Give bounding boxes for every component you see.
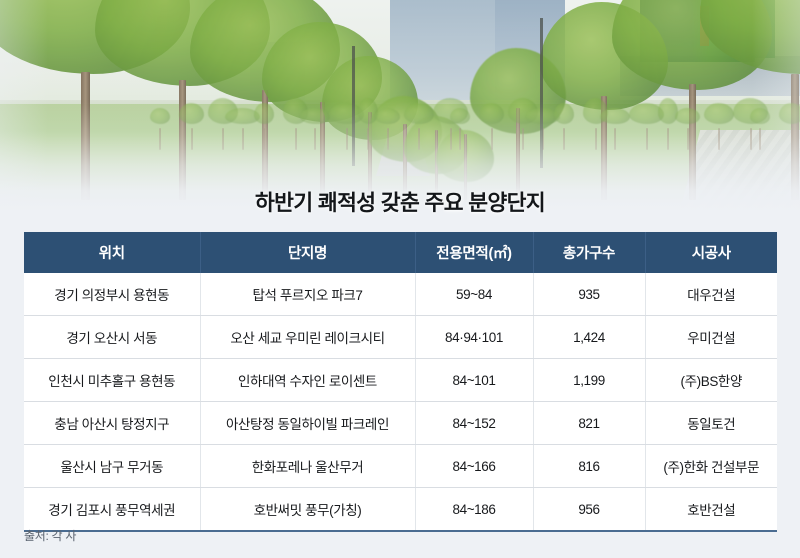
cell-units: 821 bbox=[533, 402, 645, 445]
cell-builder: 동일토건 bbox=[645, 402, 777, 445]
table-row: 경기 김포시 풍무역세권호반써밋 풍무(가칭)84~186956호반건설 bbox=[24, 488, 777, 532]
cell-area: 84~152 bbox=[415, 402, 533, 445]
column-header-builder: 시공사 bbox=[645, 232, 777, 273]
cell-area: 84·94·101 bbox=[415, 316, 533, 359]
cell-location: 울산시 남구 무거동 bbox=[24, 445, 200, 488]
table-row: 충남 아산시 탕정지구아산탕정 동일하이빌 파크레인84~152821동일토건 bbox=[24, 402, 777, 445]
table-header-row: 위치 단지명 전용면적(㎡) 총가구수 시공사 bbox=[24, 232, 777, 273]
table-row: 경기 오산시 서동오산 세교 우미린 레이크시티84·94·1011,424우미… bbox=[24, 316, 777, 359]
column-header-units: 총가구수 bbox=[533, 232, 645, 273]
cell-units: 1,424 bbox=[533, 316, 645, 359]
cell-builder: 대우건설 bbox=[645, 273, 777, 316]
cell-location: 경기 오산시 서동 bbox=[24, 316, 200, 359]
cell-complex: 아산탕정 동일하이빌 파크레인 bbox=[200, 402, 415, 445]
cell-area: 59~84 bbox=[415, 273, 533, 316]
table-body: 경기 의정부시 용현동탑석 푸르지오 파크759~84935대우건설경기 오산시… bbox=[24, 273, 777, 531]
cell-complex: 한화포레나 울산무거 bbox=[200, 445, 415, 488]
table-head: 위치 단지명 전용면적(㎡) 총가구수 시공사 bbox=[24, 232, 777, 273]
cell-area: 84~186 bbox=[415, 488, 533, 532]
cell-units: 816 bbox=[533, 445, 645, 488]
source-note: 출처: 각 사 bbox=[24, 527, 76, 544]
cell-location: 경기 김포시 풍무역세권 bbox=[24, 488, 200, 532]
cell-units: 1,199 bbox=[533, 359, 645, 402]
cell-location: 충남 아산시 탕정지구 bbox=[24, 402, 200, 445]
banner-photo bbox=[0, 0, 800, 212]
cell-complex: 인하대역 수자인 로이센트 bbox=[200, 359, 415, 402]
cell-units: 935 bbox=[533, 273, 645, 316]
cell-complex: 탑석 푸르지오 파크7 bbox=[200, 273, 415, 316]
cell-builder: 우미건설 bbox=[645, 316, 777, 359]
table-row: 울산시 남구 무거동한화포레나 울산무거84~166816(주)한화 건설부문 bbox=[24, 445, 777, 488]
apartment-supply-table: 위치 단지명 전용면적(㎡) 총가구수 시공사 경기 의정부시 용현동탑석 푸르… bbox=[24, 232, 777, 532]
column-header-complex: 단지명 bbox=[200, 232, 415, 273]
cell-location: 인천시 미추홀구 용현동 bbox=[24, 359, 200, 402]
cell-location: 경기 의정부시 용현동 bbox=[24, 273, 200, 316]
photo-fade-sides bbox=[0, 0, 800, 212]
infographic-page: 하반기 쾌적성 갖춘 주요 분양단지 위치 단지명 전용면적(㎡) 총가구수 시… bbox=[0, 0, 800, 558]
table-row: 경기 의정부시 용현동탑석 푸르지오 파크759~84935대우건설 bbox=[24, 273, 777, 316]
cell-builder: (주)BS한양 bbox=[645, 359, 777, 402]
cell-builder: (주)한화 건설부문 bbox=[645, 445, 777, 488]
cell-units: 956 bbox=[533, 488, 645, 532]
column-header-area: 전용면적(㎡) bbox=[415, 232, 533, 273]
cell-area: 84~166 bbox=[415, 445, 533, 488]
cell-complex: 호반써밋 풍무(가칭) bbox=[200, 488, 415, 532]
table-row: 인천시 미추홀구 용현동인하대역 수자인 로이센트84~1011,199(주)B… bbox=[24, 359, 777, 402]
cell-area: 84~101 bbox=[415, 359, 533, 402]
column-header-location: 위치 bbox=[24, 232, 200, 273]
page-title: 하반기 쾌적성 갖춘 주요 분양단지 bbox=[0, 186, 800, 217]
cell-builder: 호반건설 bbox=[645, 488, 777, 532]
table-container: 위치 단지명 전용면적(㎡) 총가구수 시공사 경기 의정부시 용현동탑석 푸르… bbox=[24, 232, 777, 532]
cell-complex: 오산 세교 우미린 레이크시티 bbox=[200, 316, 415, 359]
